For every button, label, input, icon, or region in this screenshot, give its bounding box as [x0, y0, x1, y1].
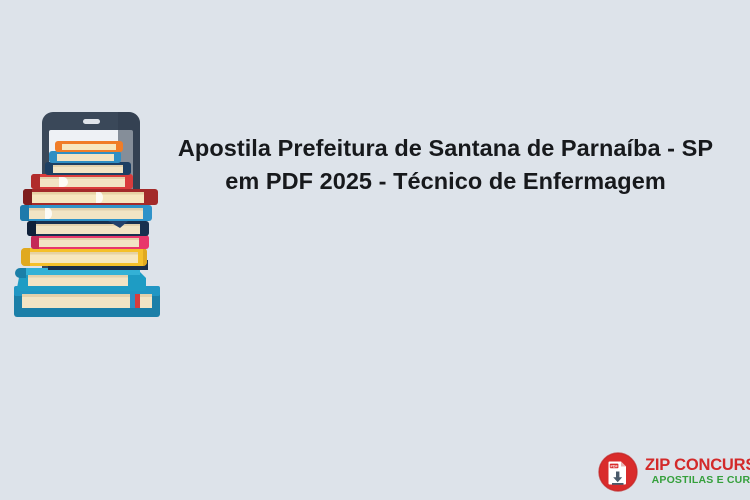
logo-subtitle: APOSTILAS E CURSOS [645, 474, 750, 487]
book-teal-upper [15, 268, 146, 291]
logo-wordmark: ZIP CONCURSOS APOSTILAS E CURSOS [645, 457, 750, 487]
zip-concursos-logo[interactable]: PDF ZIP CONCURSOS APOSTILAS E CURSOS [598, 450, 746, 494]
book-maroon [23, 189, 158, 205]
pdf-download-icon: PDF [598, 452, 638, 492]
product-banner: Apostila Prefeitura de Santana de Parnaí… [0, 0, 750, 500]
svg-text:PDF: PDF [611, 464, 619, 468]
book-pink [31, 235, 149, 249]
title-line-1: Apostila Prefeitura de Santana de Parnaí… [173, 132, 718, 165]
books-tablet-illustration [8, 108, 173, 323]
page-title: Apostila Prefeitura de Santana de Parnaí… [173, 132, 718, 198]
book-lightblue-small [49, 151, 121, 163]
book-yellow [21, 248, 147, 266]
logo-title: ZIP CONCURSOS [645, 457, 750, 474]
book-orange-top [55, 141, 123, 152]
title-line-2: em PDF 2025 - Técnico de Enfermagem [173, 165, 718, 198]
book-navy [27, 221, 149, 236]
book-red [31, 174, 133, 189]
book-navy-small [45, 162, 131, 175]
book-blue [20, 205, 152, 221]
